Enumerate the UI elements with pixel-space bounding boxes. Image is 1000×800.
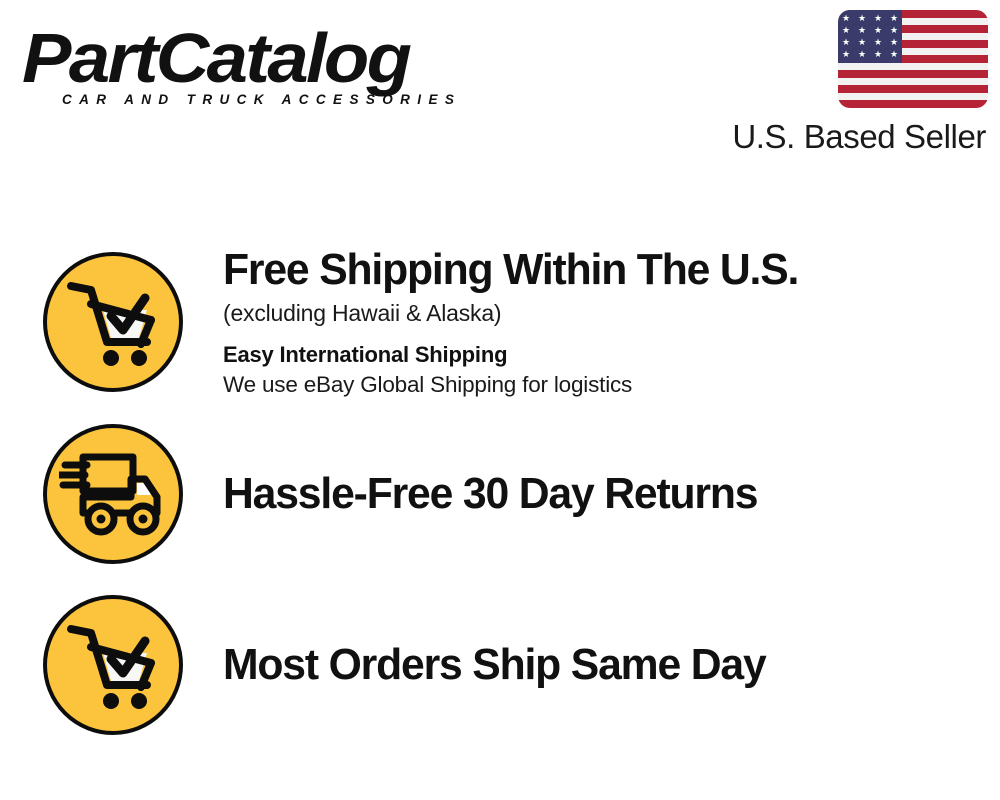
page-header: PartCatalog CAR AND TRUCK ACCESSORIES ★ … <box>0 0 1000 180</box>
flag-star: ★ <box>874 50 882 59</box>
shopping-cart-check-icon <box>43 595 183 735</box>
us-flag-icon: ★ ★ ★ ★ ★ ★ ★ ★ ★ ★ ★ ★ ★ <box>838 10 988 108</box>
feature-subtitle: (excluding Hawaii & Alaska) <box>223 298 980 328</box>
flag-star: ★ <box>874 26 882 35</box>
flag-star: ★ <box>842 50 850 59</box>
flag-star: ★ <box>890 14 898 23</box>
feature-title: Hassle-Free 30 Day Returns <box>223 468 957 520</box>
flag-star: ★ <box>890 50 898 59</box>
feature-text-block: Free Shipping Within The U.S. (excluding… <box>223 244 1000 400</box>
brand-logo[interactable]: PartCatalog CAR AND TRUCK ACCESSORIES <box>22 22 492 108</box>
feature-note-line: We use eBay Global Shipping for logistic… <box>223 370 980 400</box>
flag-star: ★ <box>858 50 866 59</box>
feature-text-block: Most Orders Ship Same Day <box>223 639 1000 691</box>
flag-star: ★ <box>842 26 850 35</box>
flag-star: ★ <box>858 26 866 35</box>
us-based-seller-label: U.S. Based Seller <box>708 119 986 155</box>
logo-wordmark: PartCatalog <box>22 22 520 94</box>
feature-row: Most Orders Ship Same Day <box>0 591 1000 739</box>
flag-canton: ★ ★ ★ ★ ★ ★ ★ ★ ★ ★ ★ ★ ★ <box>838 10 902 63</box>
feature-title: Most Orders Ship Same Day <box>223 639 957 691</box>
shopping-cart-check-icon <box>43 252 183 392</box>
feature-text-block: Hassle-Free 30 Day Returns <box>223 468 1000 520</box>
flag-star: ★ <box>890 38 898 47</box>
delivery-truck-icon <box>43 424 183 564</box>
feature-row: Hassle-Free 30 Day Returns <box>0 420 1000 568</box>
flag-star: ★ <box>874 38 882 47</box>
flag-star: ★ <box>842 14 850 23</box>
flag-star: ★ <box>890 26 898 35</box>
feature-row: Free Shipping Within The U.S. (excluding… <box>0 248 1000 396</box>
flag-star: ★ <box>858 14 866 23</box>
flag-star: ★ <box>874 14 882 23</box>
feature-strong-line: Easy International Shipping <box>223 341 980 369</box>
us-based-seller-badge: ★ ★ ★ ★ ★ ★ ★ ★ ★ ★ ★ ★ ★ <box>708 10 988 155</box>
flag-star: ★ <box>842 38 850 47</box>
flag-star: ★ <box>858 38 866 47</box>
feature-title: Free Shipping Within The U.S. <box>223 244 957 296</box>
